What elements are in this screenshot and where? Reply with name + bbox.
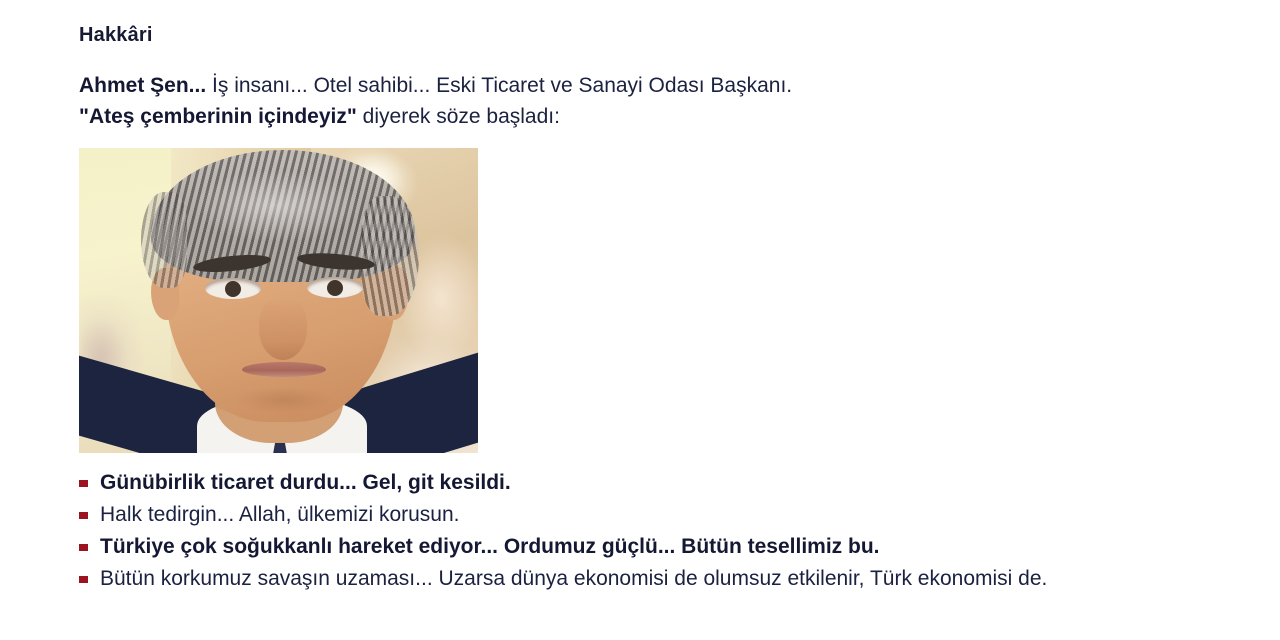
nose: [259, 298, 307, 360]
mouth: [242, 362, 326, 377]
list-item-text: Günübirlik ticaret durdu... Gel, git kes…: [100, 471, 511, 494]
list-item-text: Bütün korkumuz savaşın uzaması... Uzarsa…: [100, 567, 1047, 590]
pull-quote: "Ateş çemberinin içindeyiz": [79, 105, 357, 128]
list-item: Türkiye çok soğukkanlı hareket ediyor...…: [79, 531, 1135, 562]
article-content: Hakkâri Ahmet Şen... İş insanı... Otel s…: [79, 22, 1139, 595]
statement-list: Günübirlik ticaret durdu... Gel, git kes…: [79, 467, 1139, 594]
square-bullet-icon: [79, 480, 88, 487]
lede-line-one: İş insanı... Otel sahibi... Eski Ticaret…: [206, 74, 792, 97]
article-page: Hakkâri Ahmet Şen... İş insanı... Otel s…: [0, 0, 1280, 640]
list-item: Günübirlik ticaret durdu... Gel, git kes…: [79, 467, 1135, 498]
person-name: Ahmet Şen...: [79, 74, 206, 97]
article-lede: Ahmet Şen... İş insanı... Otel sahibi...…: [79, 70, 1119, 132]
square-bullet-icon: [79, 512, 88, 519]
portrait-photo: [79, 148, 478, 453]
list-item: Halk tedirgin... Allah, ülkemizi korusun…: [79, 499, 1135, 530]
chin-shadow: [219, 386, 349, 420]
square-bullet-icon: [79, 544, 88, 551]
square-bullet-icon: [79, 576, 88, 583]
list-item: Bütün korkumuz savaşın uzaması... Uzarsa…: [79, 563, 1135, 594]
page-title: Hakkâri: [79, 22, 1139, 48]
lede-line-two: diyerek söze başladı:: [357, 105, 560, 128]
hair-side-right: [361, 196, 419, 316]
portrait-photo-wrap: [79, 148, 478, 453]
pupil-left: [225, 281, 241, 297]
hair-side-left: [141, 192, 187, 288]
list-item-text: Türkiye çok soğukkanlı hareket ediyor...…: [100, 535, 880, 558]
pupil-right: [327, 280, 343, 296]
list-item-text: Halk tedirgin... Allah, ülkemizi korusun…: [100, 503, 460, 526]
